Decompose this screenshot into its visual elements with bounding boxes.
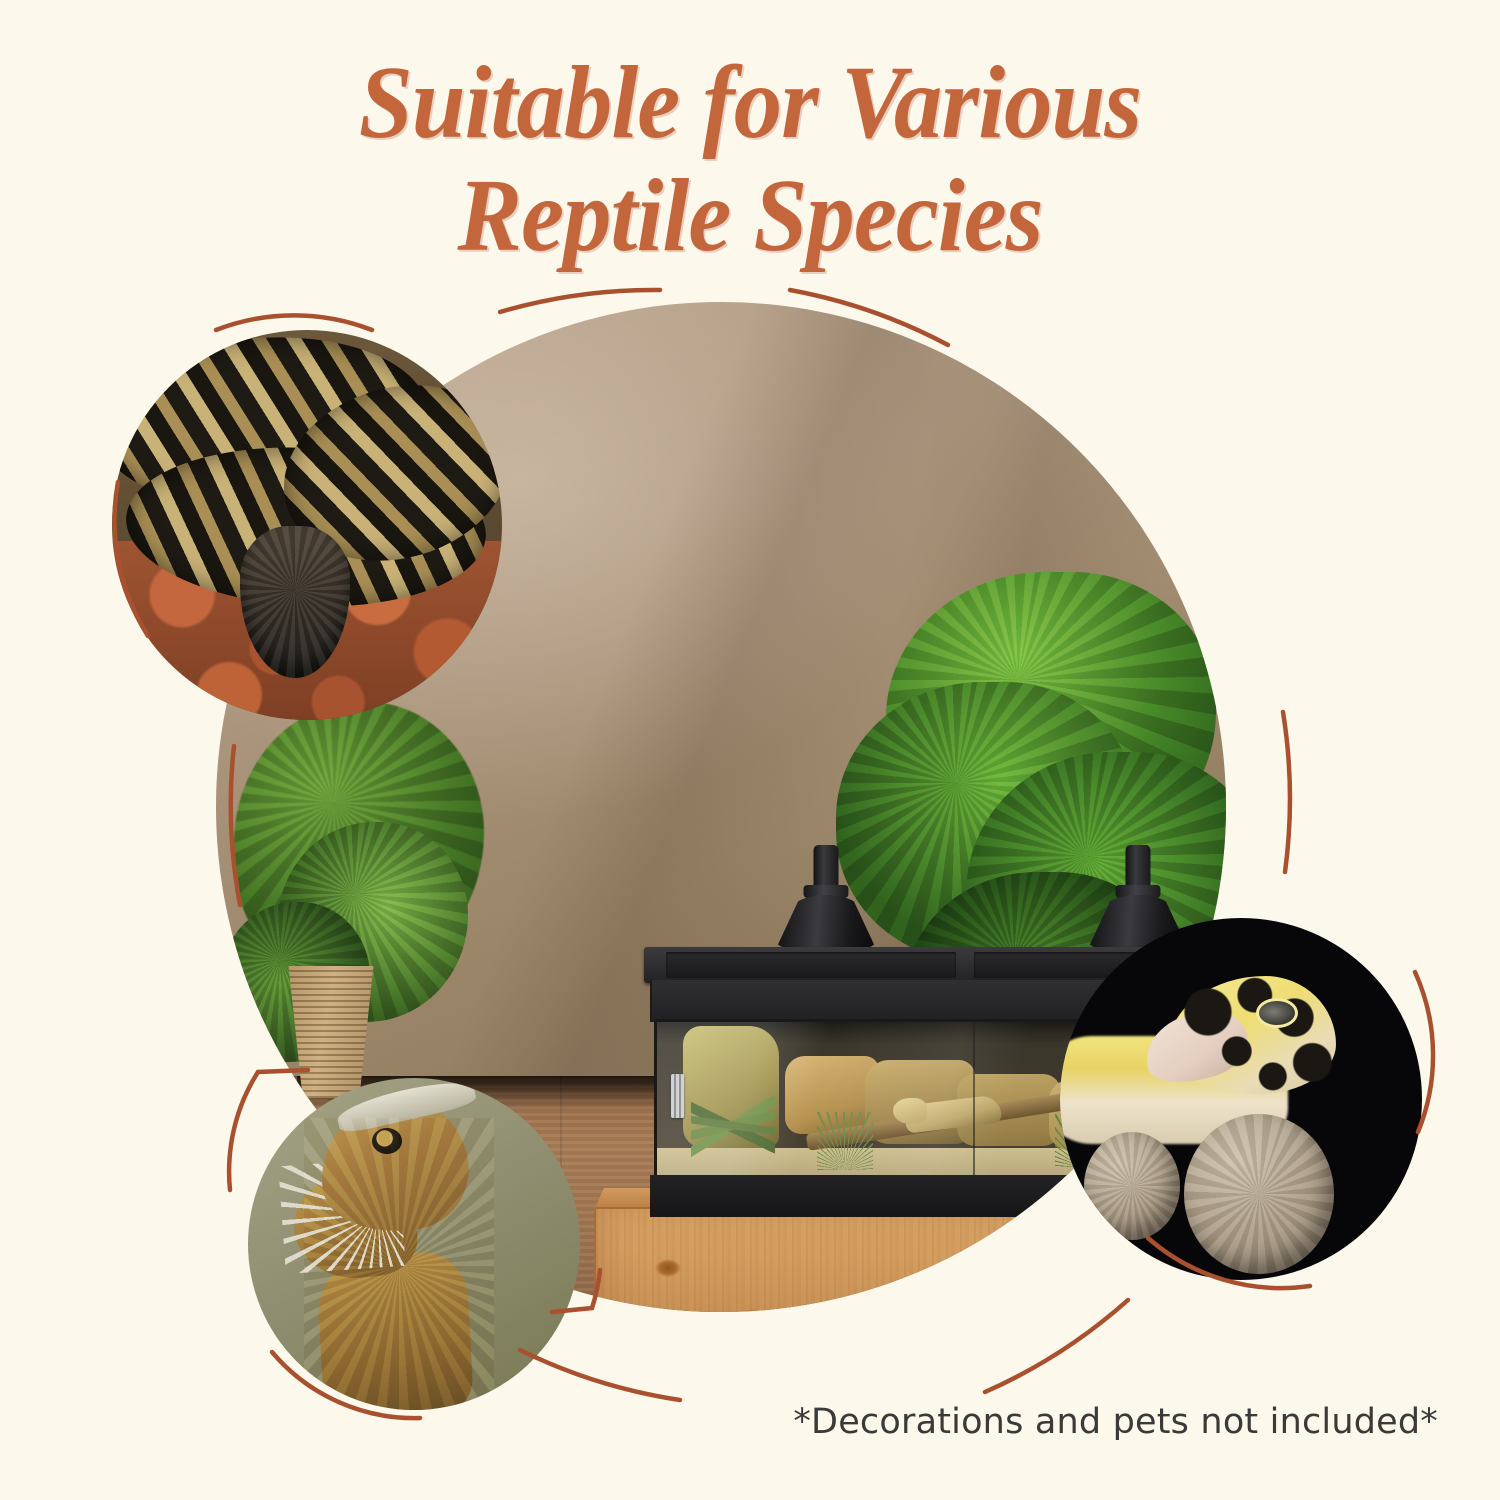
decorative-arc bbox=[520, 1350, 680, 1400]
poster-canvas: Suitable for Various Reptile Species bbox=[0, 0, 1500, 1500]
dome-heat-lamp bbox=[774, 845, 878, 957]
decorative-arc bbox=[985, 1300, 1128, 1392]
dragon-head bbox=[893, 1098, 927, 1124]
dragon-scale-texture bbox=[304, 1118, 494, 1410]
aloe-plant bbox=[691, 1076, 775, 1174]
grass-tuft bbox=[817, 1112, 873, 1170]
inset-photo-bearded-dragon bbox=[248, 1078, 580, 1410]
walnut-decor bbox=[1184, 1114, 1334, 1274]
gecko-spot-pattern bbox=[1172, 970, 1352, 1110]
inset-photo-leopard-gecko bbox=[1060, 918, 1422, 1280]
gecko-eye bbox=[1256, 998, 1298, 1028]
sliding-door-divider bbox=[973, 1022, 975, 1178]
walnut-decor bbox=[1084, 1132, 1180, 1240]
decorative-arc bbox=[1283, 712, 1290, 872]
sliding-door-handle[interactable] bbox=[671, 1074, 684, 1118]
page-title: Suitable for Various Reptile Species bbox=[53, 46, 1448, 273]
lid-vent-panel bbox=[666, 952, 956, 978]
lamp-dome-shade bbox=[774, 895, 878, 953]
disclaimer-text: *Decorations and pets not included* bbox=[793, 1402, 1438, 1442]
inset-photo-ball-python bbox=[112, 330, 502, 720]
